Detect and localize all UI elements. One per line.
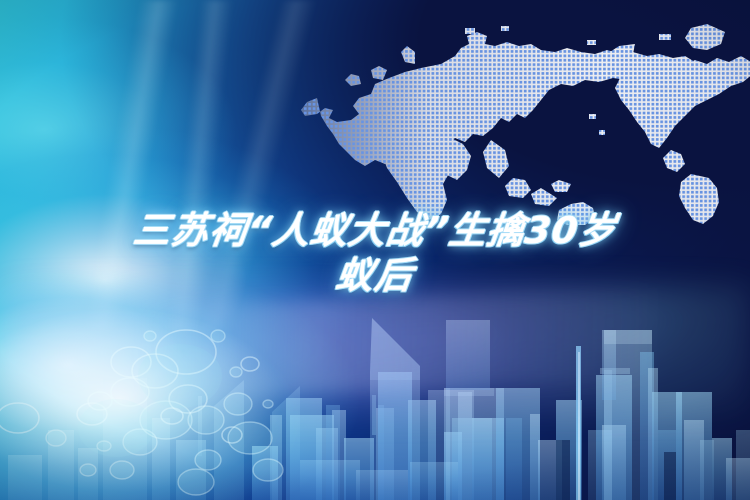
banner: 三苏祠“人蚁大战”生擒30岁 蚁后 [0,0,750,500]
vignette [0,0,750,500]
